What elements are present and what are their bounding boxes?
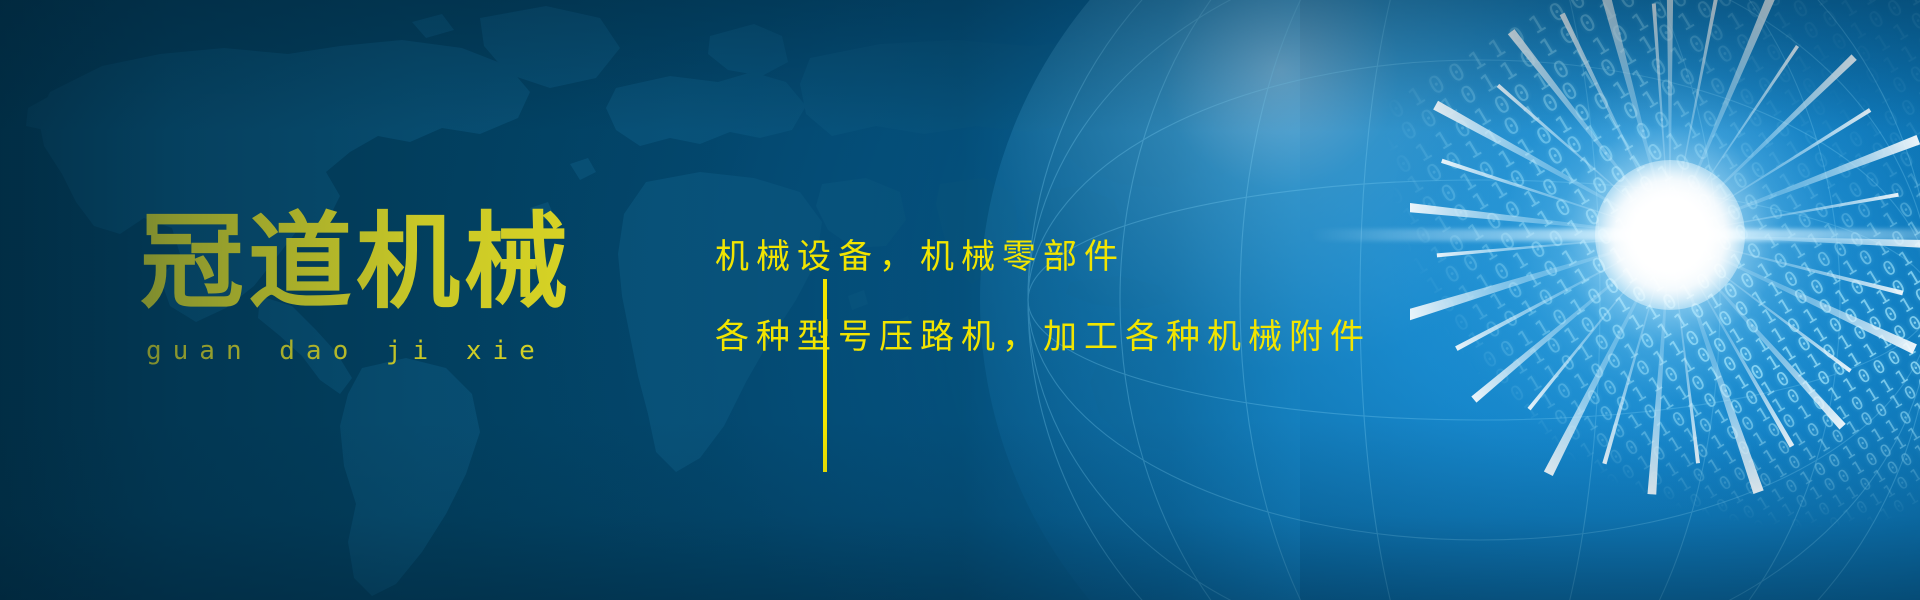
binary-row: 01001101001011010010011010011010: [1597, 278, 1920, 600]
tagline-group: 机械设备，机械零部件 各种型号压路机，加工各种机械附件: [715, 240, 1415, 354]
binary-row: 110100110100101101001011101001101001: [1407, 53, 1920, 442]
binary-row: 01011010010110100110101010110100101: [1481, 144, 1920, 520]
flare-glow: [1390, 0, 1920, 515]
binary-row: 00101101001101001011010001011010: [1625, 309, 1920, 600]
binary-row: 00110101001011010011010001101010010: [1452, 109, 1920, 490]
binary-row: 0010110010110100101101000101100101: [1511, 179, 1920, 549]
sun-lens-flare: [1410, 0, 1920, 495]
binary-row: 11001011010010110100110110010110100101: [1346, 0, 1920, 373]
binary-row: 1001100101101001101001110011001011: [1526, 196, 1920, 563]
company-name-title: 冠道机械: [140, 210, 660, 314]
binary-row: 010100110101101001011010101001: [1706, 396, 1920, 600]
binary-row: 0110100101101001101001001101001: [1652, 339, 1920, 600]
binary-row: 001011010011010010110100010110100110100: [1268, 0, 1920, 281]
binary-row: 101001011010011010010111010010110: [1554, 230, 1920, 591]
binary-row: 0011010010110100101101000110100: [1679, 368, 1920, 600]
binary-row: 0010100110100101101001100101001101001: [1392, 34, 1920, 425]
binary-row: 1010011010010110100110110100110: [1666, 354, 1920, 600]
binary-row: 100101100100110100101101001011001: [1583, 262, 1920, 600]
binary-row: 001100101101001011010010011001011: [1569, 246, 1920, 600]
binary-row: 1011010010110100110100110110100101101: [1377, 14, 1920, 407]
binary-row: 11010010011010010110100110100100110: [1496, 162, 1920, 535]
binary-row: 010010110100110100101100100101101001: [1422, 72, 1920, 458]
binary-row: 10011010010110100110100100110100: [1638, 324, 1920, 600]
binary-row: 0110101001011010010110001101010010: [1540, 213, 1920, 577]
binary-row: 110100101101001011010011101001011010010: [1254, 0, 1914, 261]
flare-rays: [1410, 0, 1920, 495]
binary-row: 00110100101101001011010001101001011010: [1331, 0, 1920, 355]
company-name-pinyin: guan dao ji xie: [146, 336, 660, 366]
hero-banner: 1001011001001101001011010010110010011010…: [0, 0, 1920, 600]
logo-block: 冠道机械 guan dao ji xie: [140, 210, 660, 366]
binary-row: 100101101001011010010111001011010010: [1437, 90, 1920, 474]
binary-row: 0100110100101101001001101001101001011010: [1238, 0, 1901, 241]
tagline-primary: 机械设备，机械零部件: [715, 240, 1415, 274]
binary-row: 0101001101011010010110101010011010110: [1362, 0, 1920, 390]
binary-row: 110010110100101101001101100101: [1692, 382, 1920, 600]
binary-row: 10101101001101001011001101011010011: [1467, 127, 1920, 505]
flare-core: [1595, 160, 1745, 310]
binary-row: 1001011001001101001011010010110010011010: [1223, 0, 1888, 221]
tagline-secondary: 各种型号压路机，加工各种机械附件: [715, 320, 1415, 354]
binary-row: 11010010110100101101001110100101: [1611, 294, 1920, 600]
